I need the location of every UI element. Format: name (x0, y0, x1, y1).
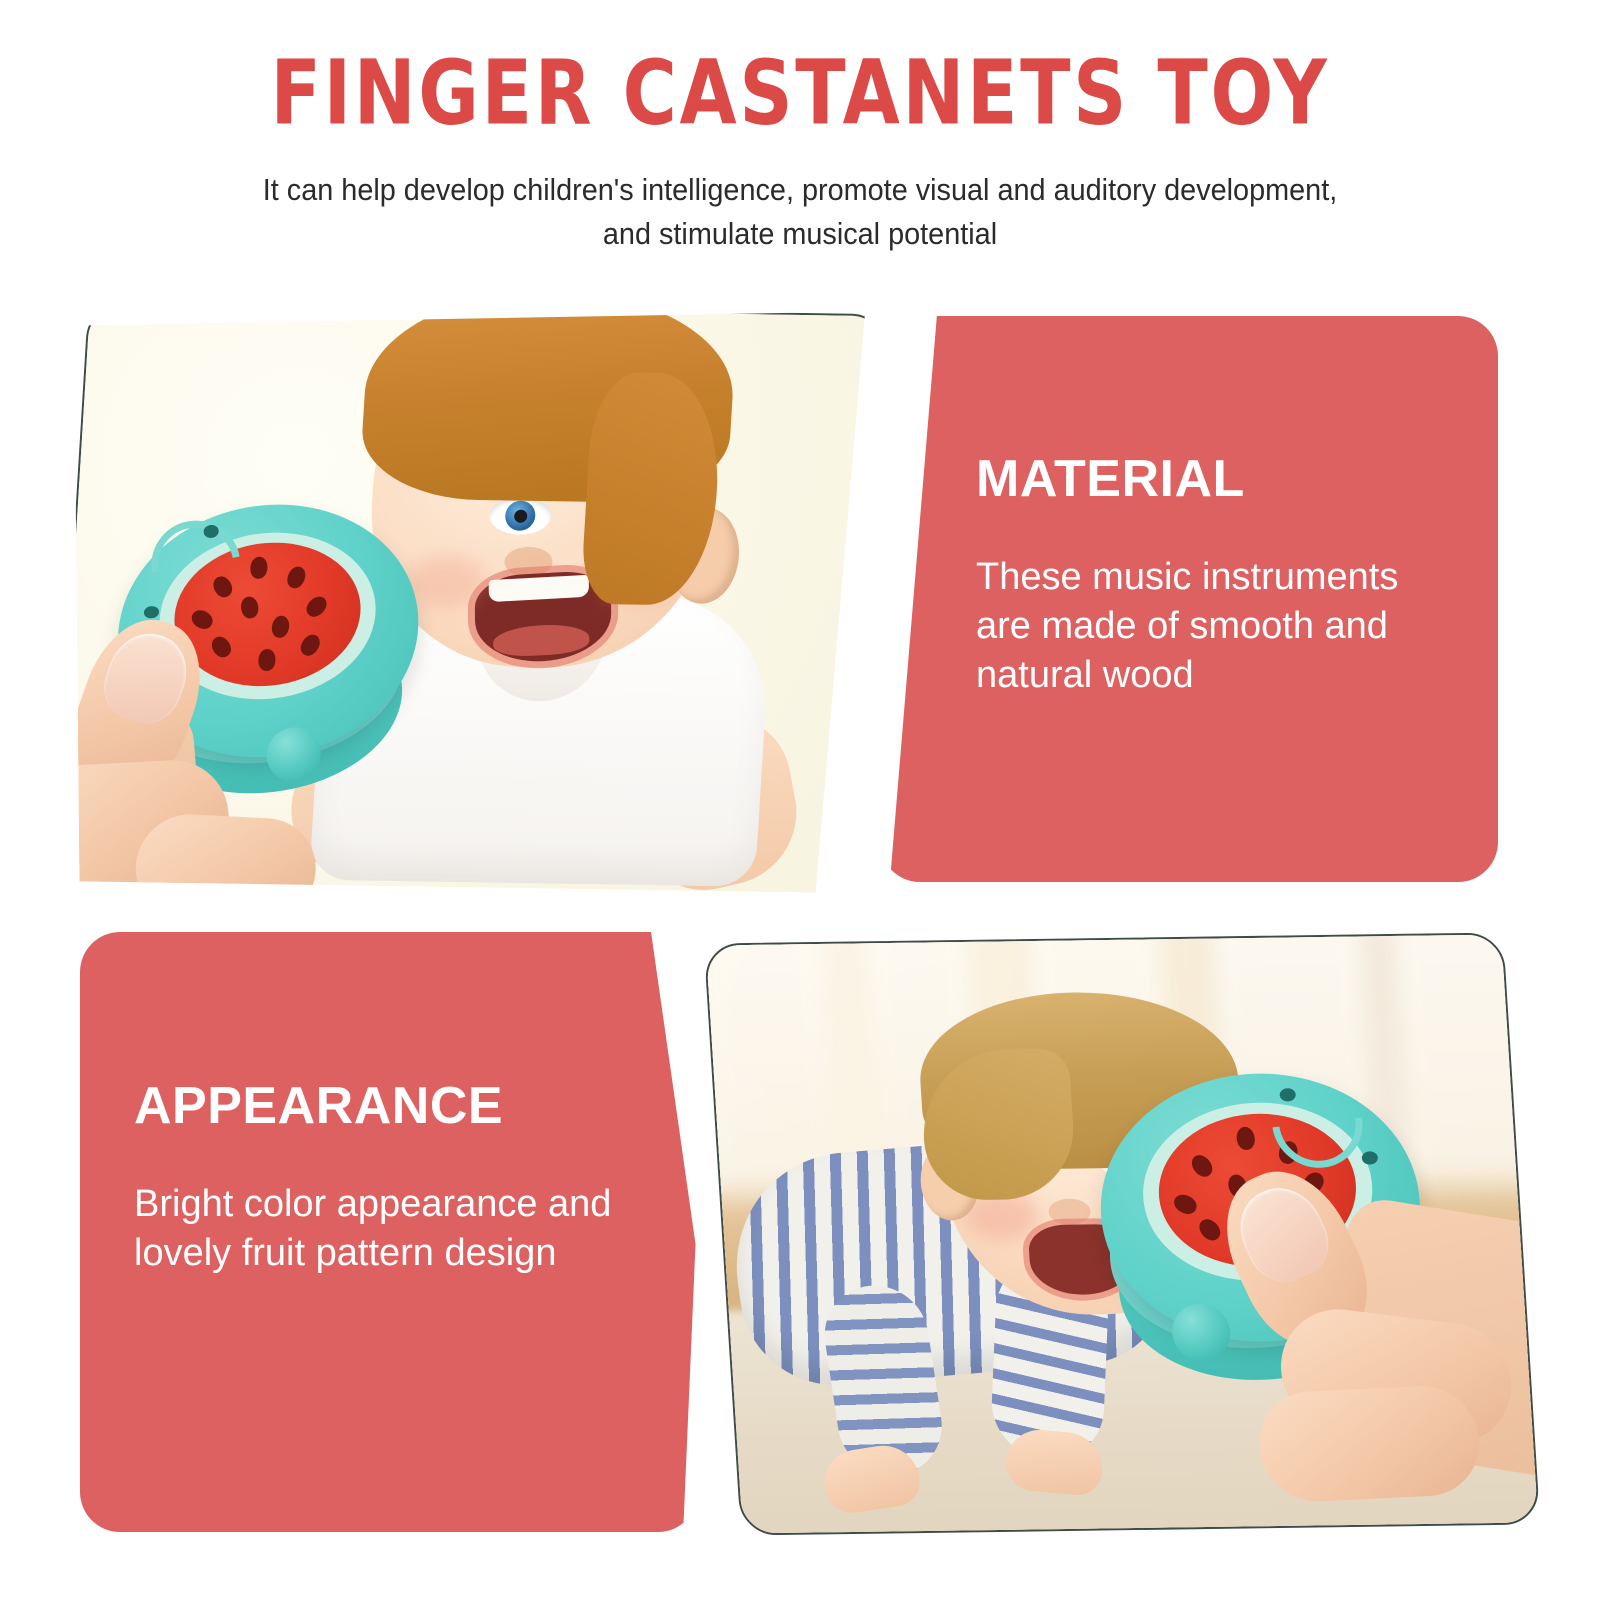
watermelon-seed (303, 593, 330, 620)
photo-top-left (70, 308, 870, 896)
panel-appearance-content: APPEARANCE Bright color appearance and l… (134, 1078, 628, 1278)
baby-eye-left (488, 496, 552, 535)
page-title: FINGER CASTANETS TOY (96, 48, 1504, 137)
photo-frame (52, 302, 887, 902)
hand-illustration (1253, 1173, 1541, 1478)
watermelon-seed (188, 607, 215, 632)
watermelon-seed (239, 594, 259, 619)
panel-appearance-body: Bright color appearance and lovely fruit… (134, 1180, 628, 1278)
panel-material-body: These music instruments are made of smoo… (976, 553, 1456, 700)
watermelon-seed (270, 615, 290, 638)
panel-appearance-heading: APPEARANCE (134, 1078, 628, 1134)
middle-finger (1254, 1383, 1484, 1504)
header: FINGER CASTANETS TOY It can help develop… (0, 0, 1600, 290)
panel-material-heading: MATERIAL (976, 451, 1456, 507)
photo-content (52, 302, 887, 902)
fingernail (95, 624, 198, 731)
watermelon-seed (250, 556, 268, 578)
watermelon-seed (1195, 1215, 1224, 1244)
watermelon-seed (1188, 1151, 1216, 1180)
photo-bottom-right (722, 938, 1522, 1530)
watermelon-seed (285, 564, 308, 590)
panel-material-content: MATERIAL These music instruments are mad… (976, 451, 1456, 700)
baby-tongue (493, 623, 589, 658)
middle-finger (131, 812, 320, 902)
photo-frame (704, 932, 1541, 1535)
panel-appearance: APPEARANCE Bright color appearance and l… (80, 932, 698, 1532)
photo-content (704, 932, 1541, 1535)
fingernail (1226, 1176, 1340, 1293)
watermelon-seed (1171, 1192, 1199, 1218)
panel-material: MATERIAL These music instruments are mad… (880, 316, 1498, 882)
hand-illustration (52, 635, 329, 903)
watermelon-seed (1236, 1127, 1256, 1151)
pupil (514, 510, 528, 523)
baby-teeth (489, 575, 589, 602)
page-subtitle: It can help develop children's intellige… (242, 168, 1358, 256)
strap-hole-bottom (144, 605, 160, 619)
